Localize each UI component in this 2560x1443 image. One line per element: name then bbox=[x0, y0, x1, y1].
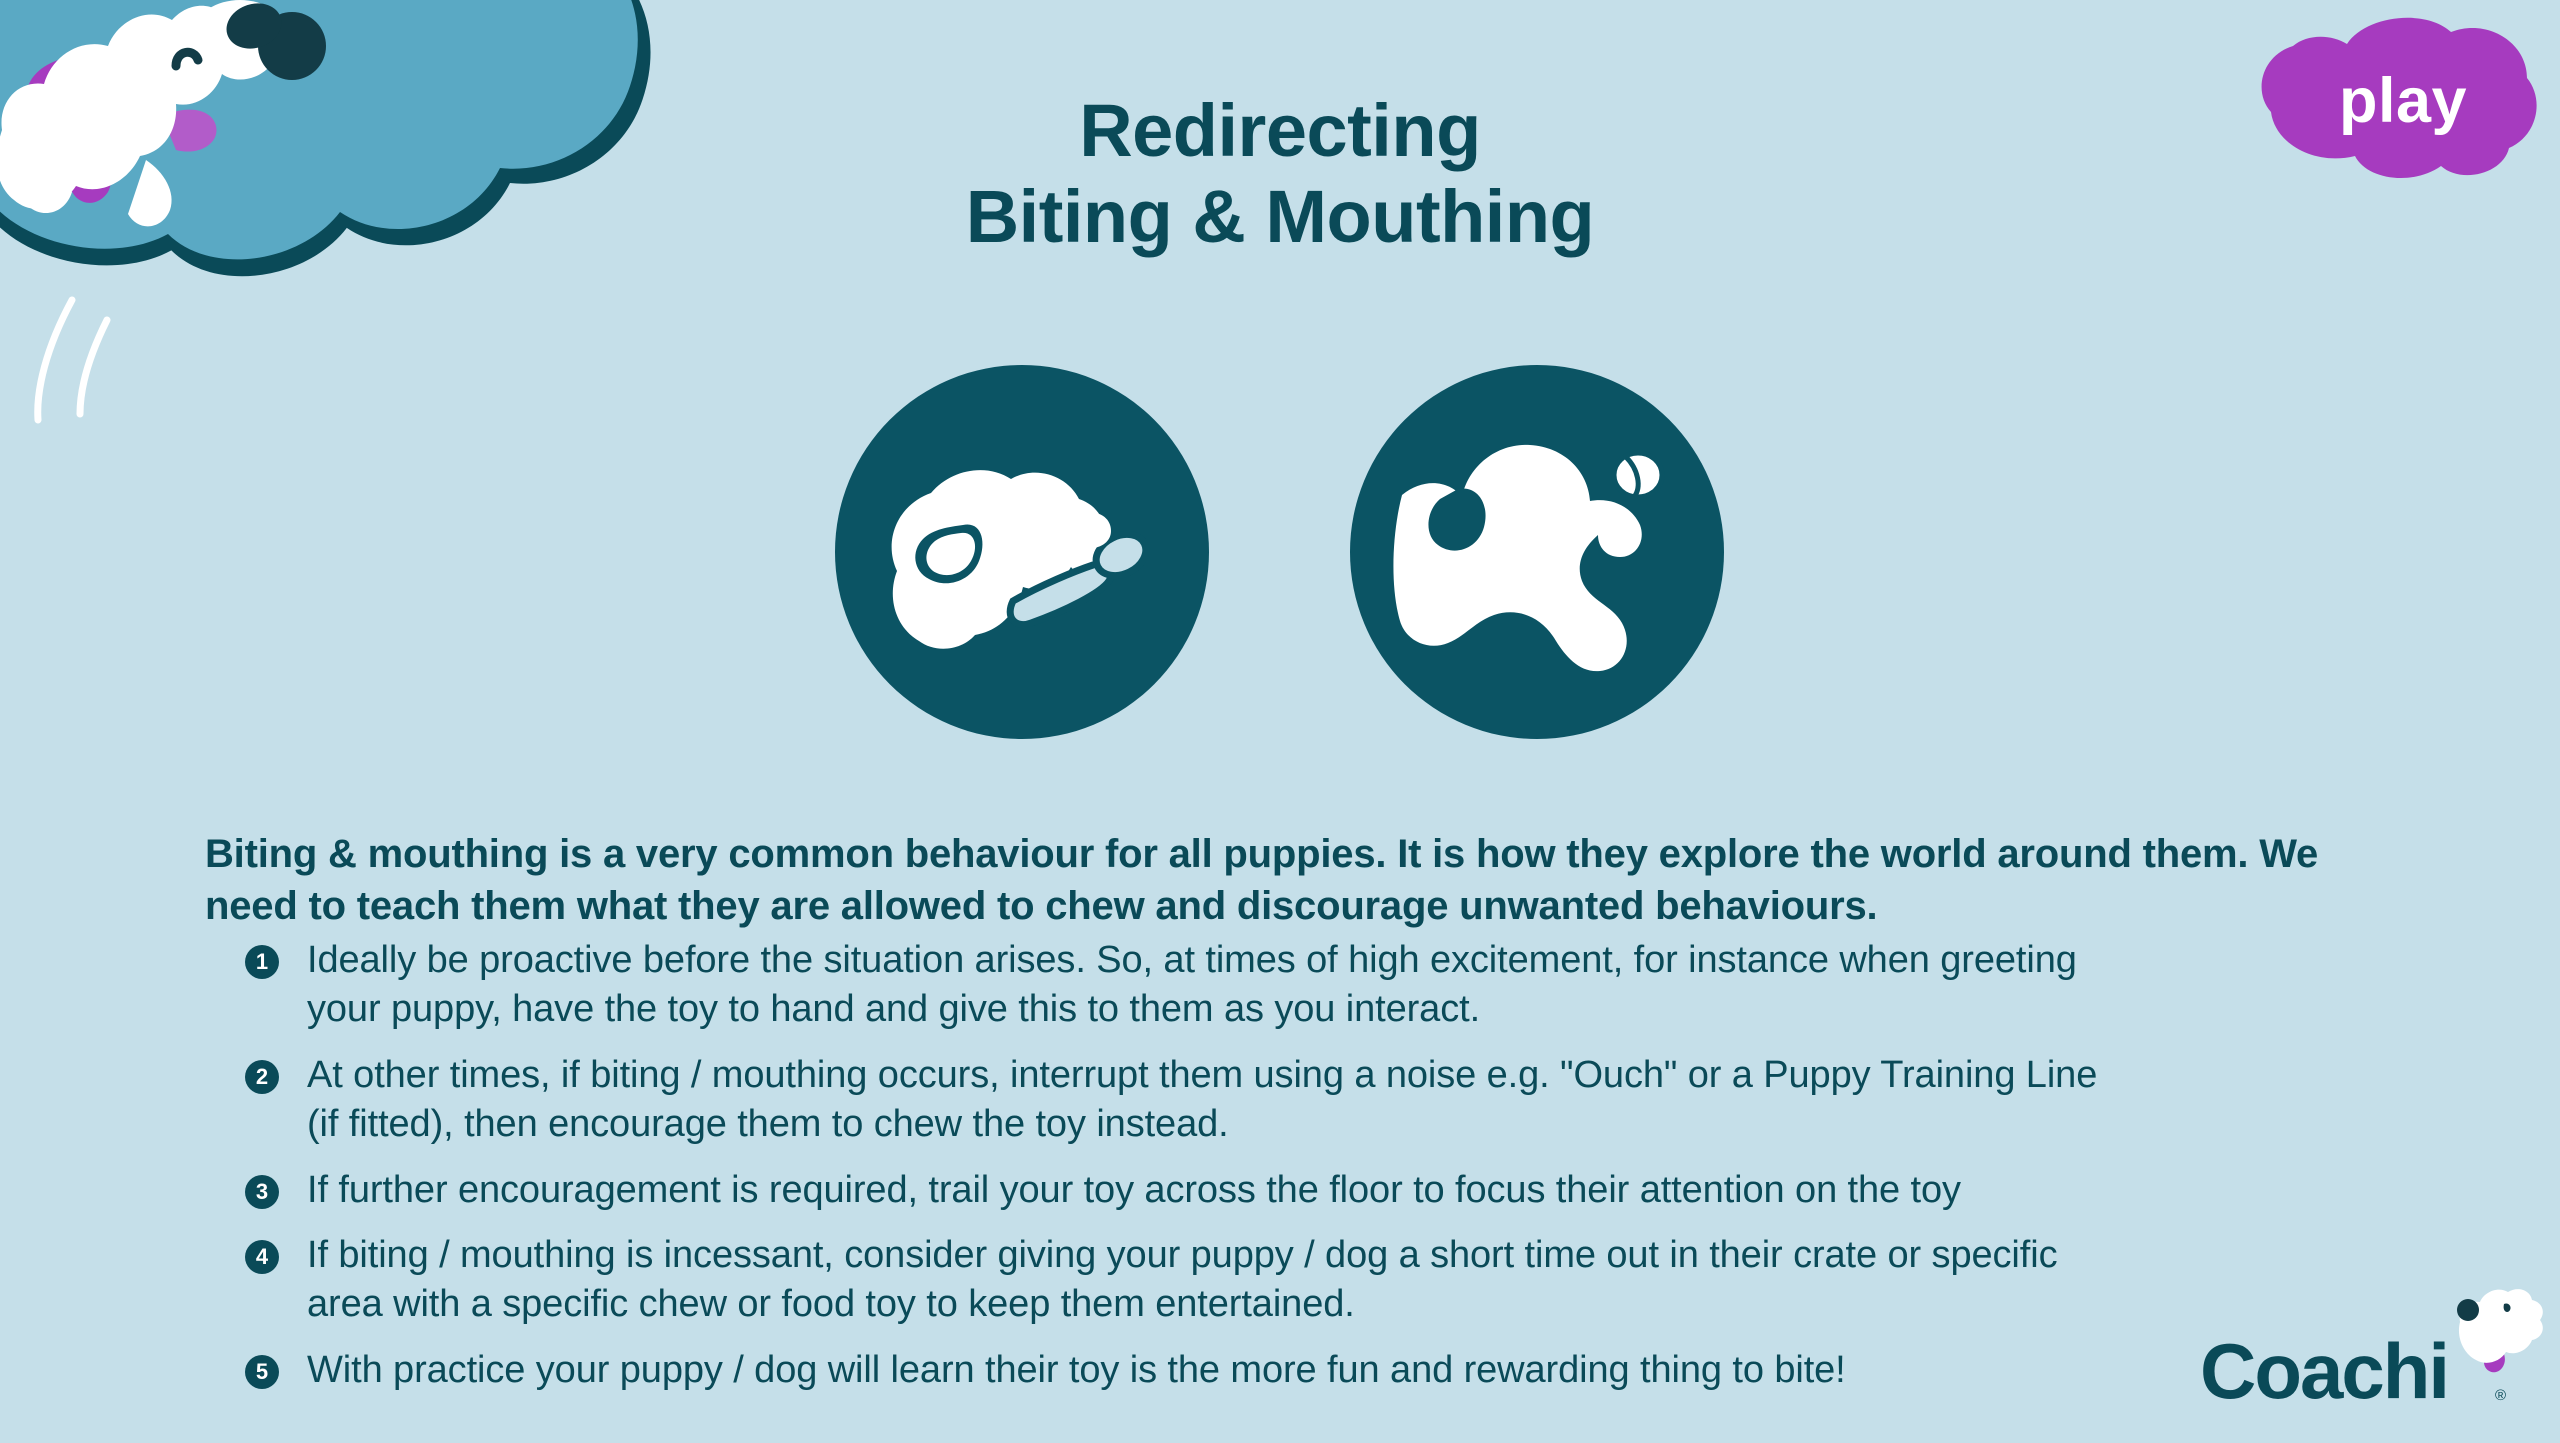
coachi-jumping-dog-icon bbox=[2442, 1284, 2552, 1376]
dog-catching-ball-icon bbox=[1350, 365, 1724, 739]
step-number-badge: 5 bbox=[245, 1355, 279, 1389]
step-number-badge: 3 bbox=[245, 1175, 279, 1209]
coachi-logo: Coachi ® bbox=[2190, 1288, 2550, 1433]
step-number-badge: 4 bbox=[245, 1240, 279, 1274]
list-item: 5 With practice your puppy / dog will le… bbox=[245, 1346, 2475, 1395]
step-number-badge: 1 bbox=[245, 945, 279, 979]
list-item: 1 Ideally be proactive before the situat… bbox=[245, 936, 2475, 1035]
page-title: Redirecting Biting & Mouthing bbox=[0, 88, 2560, 260]
steps-list: 1 Ideally be proactive before the situat… bbox=[205, 936, 2475, 1411]
step-text: If biting / mouthing is incessant, consi… bbox=[307, 1231, 2475, 1330]
dog-chewing-toy-icon bbox=[835, 365, 1209, 739]
step-text: At other times, if biting / mouthing occ… bbox=[307, 1051, 2475, 1150]
poster-canvas: play Redirecting Biting & Mouthing bbox=[0, 0, 2560, 1443]
step-text: With practice your puppy / dog will lear… bbox=[307, 1346, 2475, 1395]
page-title-line-2: Biting & Mouthing bbox=[0, 174, 2560, 260]
list-item: 3 If further encouragement is required, … bbox=[245, 1166, 2475, 1215]
page-title-line-1: Redirecting bbox=[0, 88, 2560, 174]
lead-paragraph: Biting & mouthing is a very common behav… bbox=[205, 828, 2395, 932]
step-number-badge: 2 bbox=[245, 1060, 279, 1094]
motion-lines-icon bbox=[38, 300, 107, 420]
list-item: 4 If biting / mouthing is incessant, con… bbox=[245, 1231, 2475, 1330]
step-text: Ideally be proactive before the situatio… bbox=[307, 936, 2475, 1035]
step-text: If further encouragement is required, tr… bbox=[307, 1166, 2475, 1215]
coachi-wordmark: Coachi bbox=[2200, 1332, 2448, 1410]
list-item: 2 At other times, if biting / mouthing o… bbox=[245, 1051, 2475, 1150]
icon-row bbox=[835, 365, 1725, 745]
registered-trademark-symbol: ® bbox=[2495, 1388, 2506, 1403]
